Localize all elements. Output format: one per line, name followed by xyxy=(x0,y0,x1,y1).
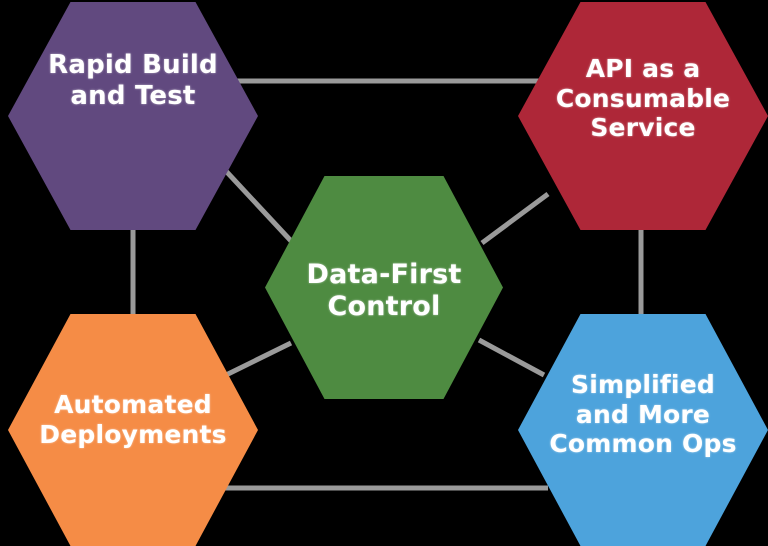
diagram-canvas: Rapid Build and Test API as a Consumable… xyxy=(0,0,768,546)
edge-automated-to-data-first xyxy=(224,343,291,376)
hex-label-automated: Automated Deployments xyxy=(35,390,230,449)
edge-api-service-to-data-first xyxy=(482,194,548,243)
hex-label-rapid-build: Rapid Build and Test xyxy=(44,50,222,111)
hex-label-api-service: API as a Consumable Service xyxy=(552,54,734,143)
edge-simplified-to-data-first xyxy=(479,340,544,375)
edge-rapid-build-to-data-first xyxy=(225,170,292,242)
hex-label-data-first: Data-First Control xyxy=(303,259,466,323)
hex-label-simplified: Simplified and More Common Ops xyxy=(545,370,740,459)
